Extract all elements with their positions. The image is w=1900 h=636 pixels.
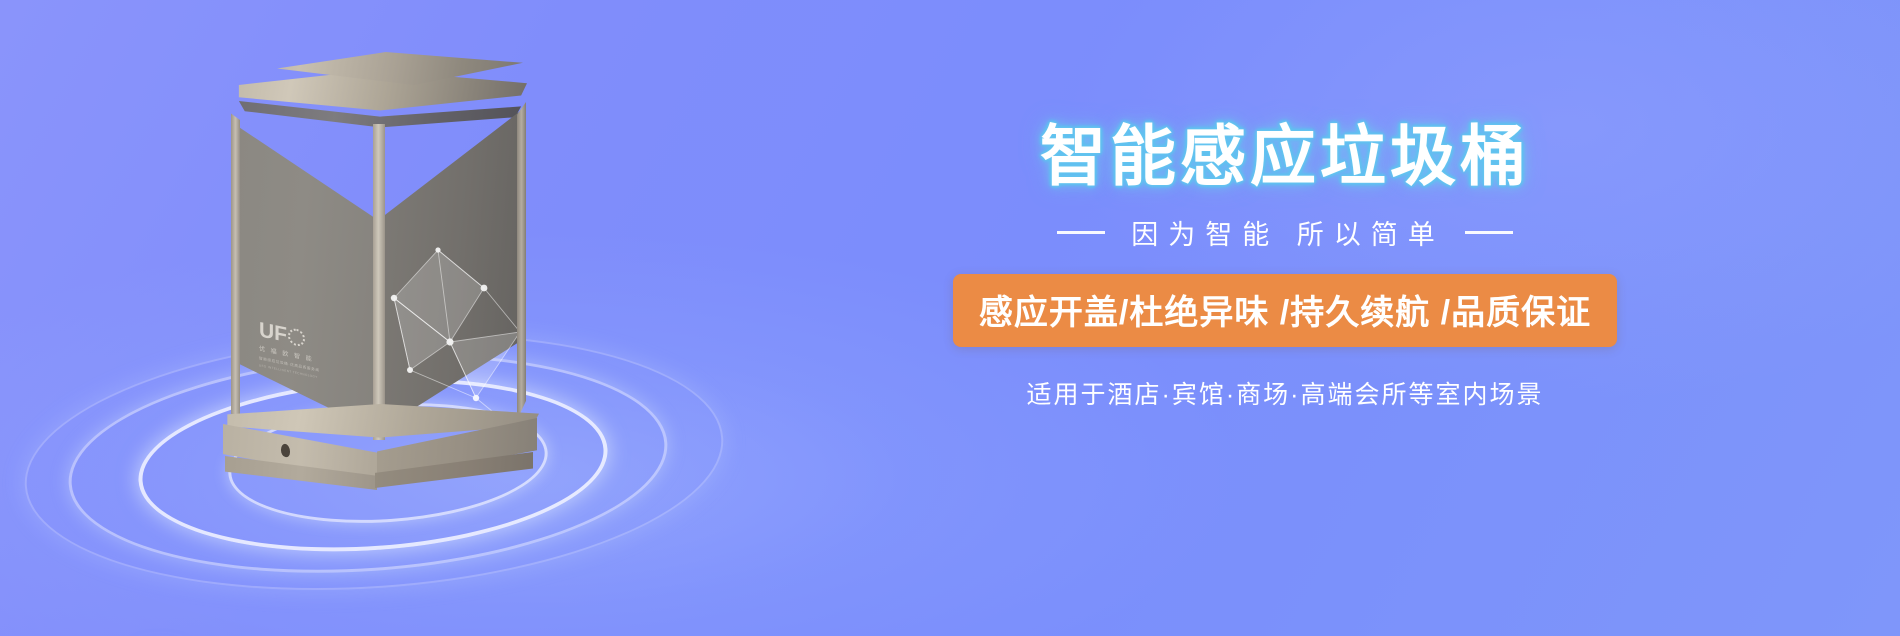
subheadline: 因为智能 所以简单 <box>870 213 1700 252</box>
bin-edge-center <box>373 124 385 440</box>
product-banner: UF 优 福 欧 智 能 智能感应垃圾桶·优质品质服务商 UFO INTELLI… <box>0 0 1900 636</box>
marketing-copy: 智能感应垃圾桶 因为智能 所以简单 感应开盖/杜绝异味 /持久续航 /品质保证 … <box>870 120 1700 411</box>
bin-edge-right <box>517 102 526 420</box>
feature-highlight-bar: 感应开盖/杜绝异味 /持久续航 /品质保证 <box>953 274 1617 347</box>
bin-panel-left <box>234 104 382 434</box>
brand-logo-ring-icon <box>288 327 305 347</box>
subheadline-dash-right <box>1465 231 1513 234</box>
bin-edge-left <box>231 107 240 433</box>
smart-trash-bin: UF 优 福 欧 智 能 智能感应垃圾桶·优质品质服务商 UFO INTELLI… <box>215 52 545 472</box>
brand-logo-letters: UF <box>259 319 287 346</box>
low-poly-graphic <box>380 202 530 422</box>
product-visual: UF 优 福 欧 智 能 智能感应垃圾桶·优质品质服务商 UFO INTELLI… <box>60 20 700 620</box>
subheadline-dash-left <box>1057 231 1105 234</box>
headline: 智能感应垃圾桶 <box>870 120 1700 193</box>
use-case-line: 适用于酒店·宾馆·商场·高端会所等室内场景 <box>870 375 1700 411</box>
subheadline-text: 因为智能 所以简单 <box>1125 213 1445 252</box>
